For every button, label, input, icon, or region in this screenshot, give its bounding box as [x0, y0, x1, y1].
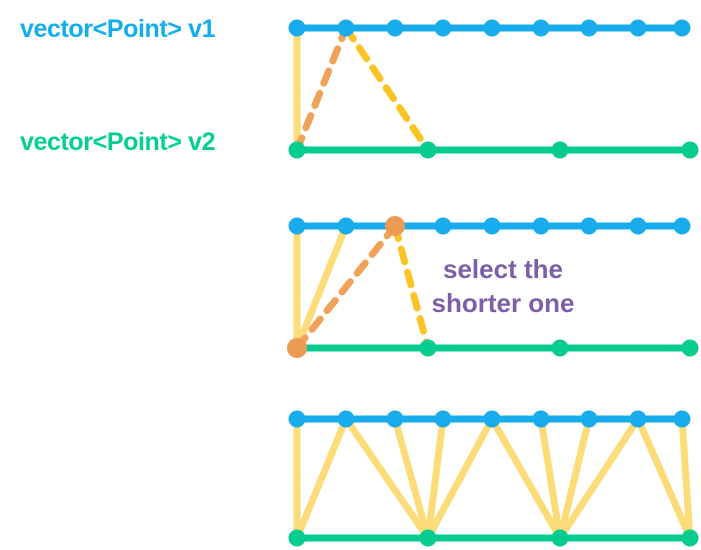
node-step-3-v1-0	[289, 411, 306, 428]
diagram-canvas: vector<Point> v1 vector<Point> v2 select…	[0, 0, 701, 550]
vector-v1-label: vector<Point> v1	[20, 15, 215, 44]
node-step-1-v1-6	[581, 20, 598, 37]
node-step-2-v1-4	[484, 218, 501, 235]
node-step-2-v1-3	[435, 218, 452, 235]
node-step-3-v2-0	[289, 530, 306, 547]
node-step-2-v2-0-highlighted	[287, 338, 307, 358]
node-step-3-v1-5	[533, 411, 550, 428]
node-step-1-v1-2	[387, 20, 404, 37]
node-step-1-v2-1	[420, 142, 437, 159]
node-step-1-v2-3	[682, 142, 699, 159]
node-step-2-v1-2-highlighted	[385, 216, 405, 236]
node-step-3-v1-6	[581, 411, 598, 428]
node-step-1-v1-0	[289, 20, 306, 37]
node-step-3-v1-3	[435, 411, 452, 428]
vector-v2-label: vector<Point> v2	[20, 128, 215, 157]
edge-step-3-2	[346, 419, 428, 538]
node-step-1-v2-0	[289, 142, 306, 159]
node-step-1-v1-8	[674, 20, 691, 37]
node-step-1-v1-7	[630, 20, 647, 37]
node-step-2-v1-8	[674, 218, 691, 235]
node-step-3-v1-4	[484, 411, 501, 428]
edge-step-2-1	[297, 226, 346, 348]
node-step-3-v2-2	[552, 530, 569, 547]
edge-step-1-1	[297, 28, 346, 150]
node-step-1-v1-5	[533, 20, 550, 37]
edge-step-1-2	[346, 28, 428, 150]
node-step-3-v2-3	[682, 530, 699, 547]
node-step-1-v1-3	[435, 20, 452, 37]
edge-step-2-2	[297, 226, 395, 348]
node-step-2-v1-7	[630, 218, 647, 235]
select-shorter-line-1: select the	[408, 252, 598, 286]
node-step-2-v1-6	[581, 218, 598, 235]
node-step-3-v2-1	[420, 530, 437, 547]
select-shorter-line-2: shorter one	[408, 286, 598, 320]
node-step-2-v2-2	[552, 340, 569, 357]
node-step-3-v1-2	[387, 411, 404, 428]
node-step-2-v1-5	[533, 218, 550, 235]
node-step-2-v2-1	[420, 340, 437, 357]
node-step-1-v1-4	[484, 20, 501, 37]
edge-step-3-1	[297, 419, 346, 538]
node-step-1-v2-2	[552, 142, 569, 159]
node-step-3-v1-8	[674, 411, 691, 428]
node-step-1-v1-1	[338, 20, 355, 37]
node-step-3-v1-1	[338, 411, 355, 428]
node-step-2-v1-0	[289, 218, 306, 235]
select-shorter-annotation: select the shorter one	[408, 252, 598, 321]
node-step-3-v1-7	[630, 411, 647, 428]
node-step-2-v1-1	[338, 218, 355, 235]
node-step-2-v2-3	[682, 340, 699, 357]
